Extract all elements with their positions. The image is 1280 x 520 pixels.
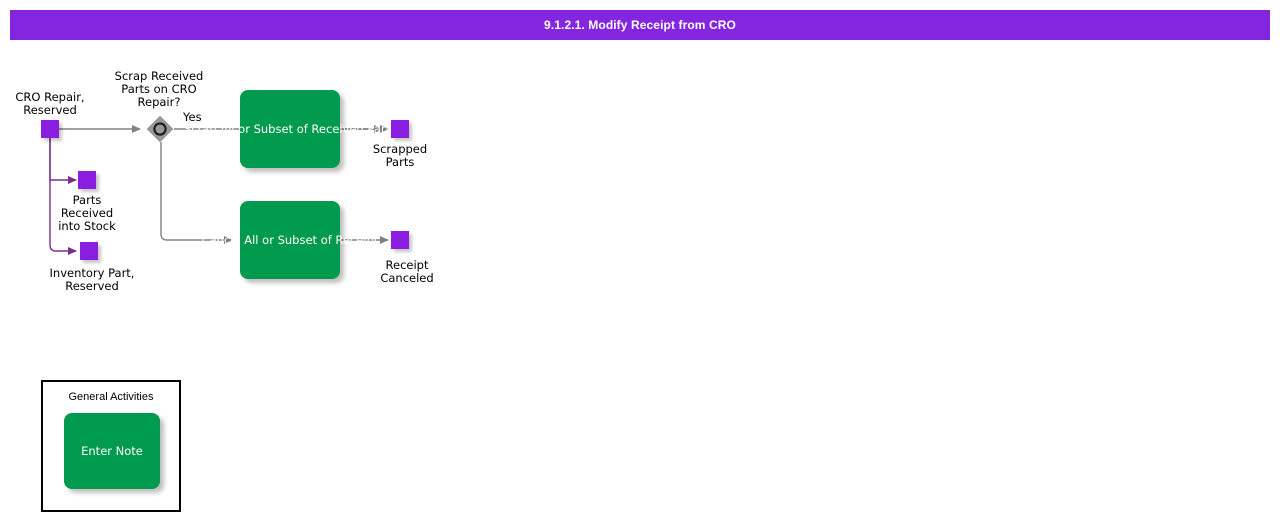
data-object-inventory-part-reserved[interactable]: [80, 242, 98, 260]
task-scrap-all-or-subset-of-received-parts[interactable]: Scrap All or Subset of Received Parts: [240, 90, 340, 168]
data-object-parts-received-into-stock[interactable]: [78, 171, 96, 189]
page-title: 9.1.2.1. Modify Receipt from CRO: [544, 18, 736, 32]
legend-panel: General Activities Enter Note: [41, 380, 181, 512]
data-object-cro-repair-reserved[interactable]: [41, 120, 59, 138]
task-label-cancel-all-or-subset-of-receipt: Cancel All or Subset of Receipt: [202, 234, 379, 247]
data-object-label-cro-repair-reserved: CRO Repair, Reserved: [0, 91, 100, 117]
gateway-scrap-received-parts[interactable]: [147, 116, 173, 142]
flow-gateway-to-cancel-task: [161, 142, 232, 240]
legend-title: General Activities: [43, 391, 179, 403]
task-label-scrap-all-or-subset-of-received-parts: Scrap All or Subset of Received Parts: [184, 123, 396, 136]
task-cancel-all-or-subset-of-receipt[interactable]: Cancel All or Subset of Receipt: [240, 201, 340, 279]
inclusive-gateway-icon: [147, 116, 173, 142]
association-cro-repair-to-parts-received: [50, 138, 76, 180]
data-object-label-parts-received-into-stock: Parts Received into Stock: [37, 194, 137, 233]
gateway-label-scrap-received-parts: Scrap Received Parts on CRO Repair?: [104, 70, 214, 109]
legend-item-enter-note[interactable]: Enter Note: [64, 413, 160, 489]
data-object-label-receipt-canceled: Receipt Canceled: [357, 259, 457, 285]
data-object-label-scrapped-parts: Scrapped Parts: [350, 143, 450, 169]
diagram-title-bar: 9.1.2.1. Modify Receipt from CRO: [10, 10, 1270, 40]
data-object-receipt-canceled[interactable]: [391, 231, 409, 249]
diagram-canvas: CRO Repair, Reserved Parts Received into…: [0, 40, 1280, 520]
legend-item-label-enter-note: Enter Note: [81, 445, 143, 458]
data-object-label-inventory-part-reserved: Inventory Part, Reserved: [39, 267, 145, 293]
data-object-scrapped-parts[interactable]: [391, 120, 409, 138]
